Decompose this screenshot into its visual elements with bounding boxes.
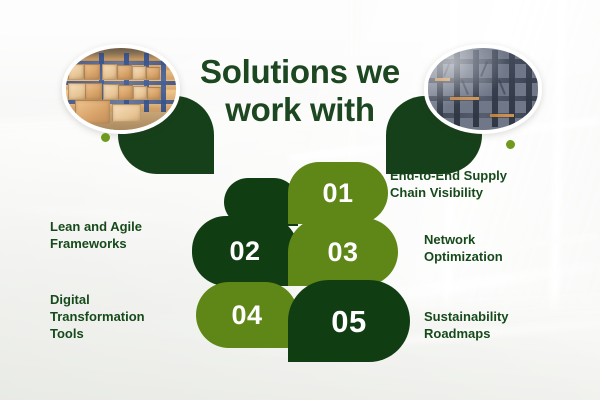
petal-item-02[interactable]: 02 bbox=[192, 216, 298, 286]
petal-label-04-line-1: Digital bbox=[50, 291, 190, 308]
petal-label-01-line-2: Chain Visibility bbox=[390, 184, 560, 201]
right-photo-bubble bbox=[424, 44, 600, 179]
photo-frame bbox=[62, 44, 180, 134]
page-title: Solutions we work with bbox=[170, 53, 430, 130]
accent-dot bbox=[506, 140, 515, 149]
steel-racking-structure-photo bbox=[428, 48, 538, 130]
petal-item-05[interactable]: 05 bbox=[288, 280, 410, 362]
accent-dot bbox=[101, 133, 110, 142]
petal-label-04: Digital Transformation Tools bbox=[50, 291, 190, 342]
petal-label-03: Network Optimization bbox=[424, 231, 574, 265]
petal-label-05-line-1: Sustainability bbox=[424, 308, 584, 325]
petal-label-02-line-1: Lean and Agile bbox=[50, 218, 190, 235]
petal-item-03[interactable]: 03 bbox=[288, 218, 398, 286]
title-line-2: work with bbox=[170, 91, 430, 129]
petal-item-01[interactable]: 01 bbox=[288, 162, 388, 224]
slide-canvas: Solutions we work with 01 02 03 04 05 En… bbox=[0, 0, 600, 400]
petal-number-05: 05 bbox=[331, 306, 366, 337]
petal-number-02: 02 bbox=[229, 238, 260, 265]
petal-label-05-line-2: Roadmaps bbox=[424, 325, 584, 342]
petal-number-01: 01 bbox=[322, 180, 353, 207]
title-line-1: Solutions we bbox=[200, 53, 400, 90]
petal-label-02-line-2: Frameworks bbox=[50, 235, 190, 252]
petal-label-02: Lean and Agile Frameworks bbox=[50, 218, 190, 252]
petal-label-04-line-3: Tools bbox=[50, 325, 190, 342]
petal-label-04-line-2: Transformation bbox=[50, 308, 190, 325]
petal-number-03: 03 bbox=[327, 239, 358, 266]
petal-item-04[interactable]: 04 bbox=[196, 282, 298, 348]
petal-label-03-line-2: Optimization bbox=[424, 248, 574, 265]
petal-label-05: Sustainability Roadmaps bbox=[424, 308, 584, 342]
warehouse-pallet-racking-photo bbox=[66, 48, 176, 130]
photo-frame bbox=[424, 44, 542, 134]
petal-label-03-line-1: Network bbox=[424, 231, 574, 248]
petal-number-04: 04 bbox=[231, 302, 262, 329]
